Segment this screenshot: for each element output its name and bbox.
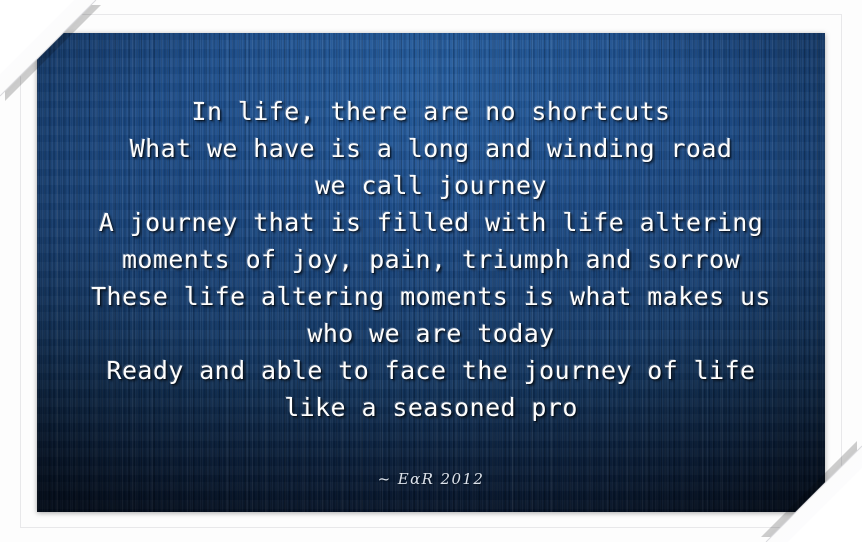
quote-line: In life, there are no shortcuts: [37, 93, 825, 130]
linen-texture-layer: [37, 33, 825, 512]
blue-canvas: In life, there are no shortcuts What we …: [37, 33, 825, 512]
quote-text: In life, there are no shortcuts What we …: [37, 93, 825, 426]
quote-line: who we are today: [37, 315, 825, 352]
quote-line: like a seasoned pro: [37, 389, 825, 426]
quote-poster: In life, there are no shortcuts What we …: [0, 0, 862, 542]
quote-line: we call journey: [37, 167, 825, 204]
artist-signature: ~ EαR 2012: [37, 470, 825, 488]
quote-line: Ready and able to face the journey of li…: [37, 352, 825, 389]
quote-line: What we have is a long and winding road: [37, 130, 825, 167]
quote-line: A journey that is filled with life alter…: [37, 204, 825, 241]
vignette-overlay: [37, 33, 825, 512]
slub-texture-layer: [37, 33, 825, 512]
quote-line: moments of joy, pain, triumph and sorrow: [37, 241, 825, 278]
quote-line: These life altering moments is what make…: [37, 278, 825, 315]
